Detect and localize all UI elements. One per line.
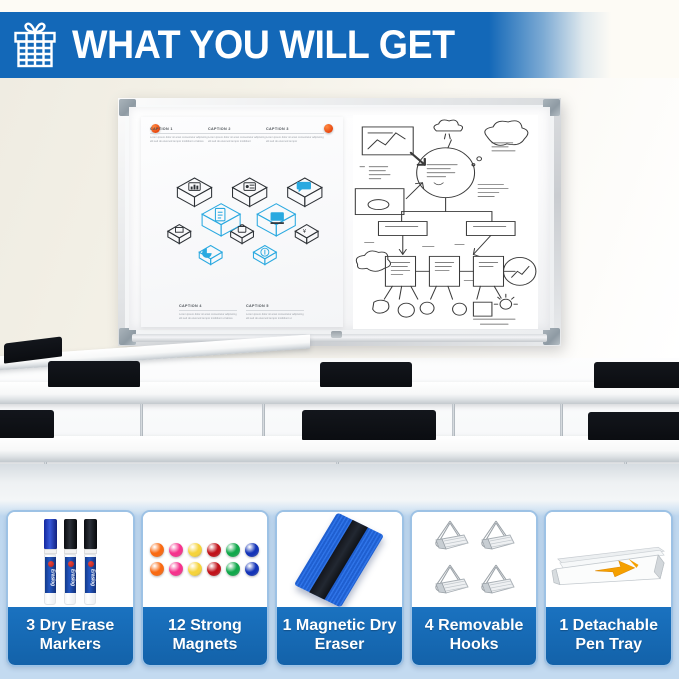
hook-3 (430, 561, 472, 603)
magnet-2 (169, 543, 183, 557)
chair-4 (594, 362, 679, 388)
chair-3 (320, 362, 412, 387)
whiteboard-surface: CAPTION 1 Lorem ipsum dolor sit amet con… (129, 107, 550, 330)
chair-7 (588, 412, 679, 440)
magnet-5 (226, 543, 240, 557)
whiteboard-pen-tray (132, 334, 547, 342)
feature-card-eraser[interactable]: 1 Magnetic Dry Eraser (275, 510, 404, 667)
poster-caption-2: CAPTION 2 Lorem ipsum dolor sit amet con… (208, 127, 266, 144)
magnet-grid (150, 543, 259, 576)
pen-tray-graphic (550, 525, 668, 595)
chair-6 (302, 410, 436, 440)
hooks-image (412, 512, 537, 607)
pen-tray-image (546, 512, 671, 607)
feature-label-magnets: 12 Strong Magnets (143, 607, 268, 665)
header-banner: WHAT YOU WILL GET (0, 12, 679, 78)
feature-card-magnets[interactable]: 12 Strong Magnets (141, 510, 270, 667)
isometric-poster: CAPTION 1 Lorem ipsum dolor sit amet con… (141, 117, 343, 327)
magnet-6 (245, 543, 259, 557)
poster-caption-1: CAPTION 1 Lorem ipsum dolor sit amet con… (150, 127, 208, 144)
svg-text:¥: ¥ (303, 229, 307, 235)
product-scene: CAPTION 1 Lorem ipsum dolor sit amet con… (0, 78, 679, 510)
eraser-strap (310, 519, 369, 599)
feature-card-pen-tray[interactable]: 1 Detachable Pen Tray (544, 510, 673, 667)
marker-brand: Eraslog (86, 569, 95, 586)
marker-brand: Eraslog (66, 569, 75, 586)
whiteboard: CAPTION 1 Lorem ipsum dolor sit amet con… (118, 98, 561, 346)
marker-1: Eraslog (44, 519, 57, 605)
magnet-11 (226, 562, 240, 576)
magnet-9 (188, 562, 202, 576)
poster-pin-right (324, 124, 333, 133)
feature-card-hooks[interactable]: 4 Removable Hooks (410, 510, 539, 667)
chair-5 (0, 410, 54, 438)
hook-grid (430, 517, 518, 603)
magnet-10 (207, 562, 221, 576)
poster-caption-5: CAPTION 5 Lorem ipsum dolor sit amet con… (246, 304, 304, 321)
feature-label-hooks: 4 Removable Hooks (412, 607, 537, 665)
product-infographic: WHAT YOU WILL GET CAPTION 1 Lorem ipsum … (0, 0, 679, 679)
magnet-4 (207, 543, 221, 557)
hook-2 (476, 517, 518, 559)
magnet-12 (245, 562, 259, 576)
poster-caption-3: CAPTION 3 Lorem ipsum dolor sit amet con… (266, 127, 324, 144)
feature-card-markers[interactable]: Eraslog Eraslog Eraslog 3 Dry Erase Mark… (6, 510, 135, 667)
feature-label-pen-tray: 1 Detachable Pen Tray (546, 607, 671, 665)
magnet-3 (188, 543, 202, 557)
gift-icon (12, 21, 58, 69)
handdrawn-mindmap-sketch (353, 115, 538, 329)
marker-3: Eraslog (84, 519, 97, 605)
feature-label-markers: 3 Dry Erase Markers (8, 607, 133, 665)
page-title: WHAT YOU WILL GET (72, 23, 455, 68)
chair-2 (48, 361, 140, 387)
hook-4 (476, 561, 518, 603)
magnet-1 (150, 543, 164, 557)
feature-label-eraser: 1 Magnetic Dry Eraser (277, 607, 402, 665)
eraser-image (277, 512, 402, 607)
feature-card-strip: Eraslog Eraslog Eraslog 3 Dry Erase Mark… (0, 500, 679, 679)
poster-caption-4: CAPTION 4 Lorem ipsum dolor sit amet con… (179, 304, 237, 321)
marker-2: Eraslog (64, 519, 77, 605)
classroom-furniture (0, 346, 679, 510)
magnetic-eraser (294, 512, 384, 607)
magnet-8 (169, 562, 183, 576)
hook-1 (430, 517, 472, 559)
markers-image: Eraslog Eraslog Eraslog (8, 512, 133, 607)
magnets-image (143, 512, 268, 607)
isometric-icon-cluster: ¥ (141, 159, 343, 283)
marker-brand: Eraslog (46, 569, 55, 586)
magnet-7 (150, 562, 164, 576)
